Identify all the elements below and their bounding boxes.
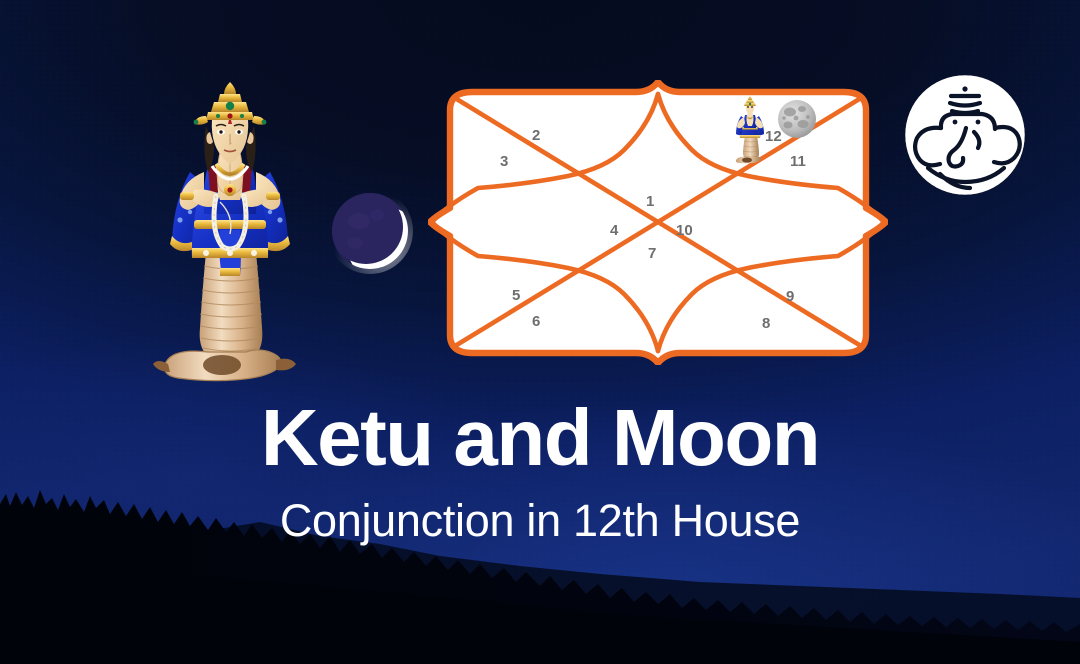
ketu-deity-illustration xyxy=(150,80,310,385)
house-number-1: 1 xyxy=(646,194,654,209)
house-number-9: 9 xyxy=(786,289,794,304)
ketu-planet-marker xyxy=(733,96,767,164)
house-number-6: 6 xyxy=(532,314,540,329)
house-number-4: 4 xyxy=(610,223,618,238)
page-subtitle: Conjunction in 12th House xyxy=(0,498,1080,543)
title-block: Ketu and Moon Conjunction in 12th House xyxy=(0,398,1080,543)
crescent-moon xyxy=(325,185,420,280)
chart-diagram xyxy=(428,80,888,365)
house-number-11: 11 xyxy=(790,154,806,169)
house-number-3: 3 xyxy=(500,154,508,169)
house-number-8: 8 xyxy=(762,316,770,331)
house-number-2: 2 xyxy=(532,128,540,143)
full-moon-marker xyxy=(776,98,818,140)
vedic-birth-chart[interactable]: 1 2 3 4 5 6 7 8 9 10 11 12 xyxy=(428,80,888,365)
house-number-5: 5 xyxy=(512,288,520,303)
ganesha-logo xyxy=(900,70,1030,200)
house-number-10: 10 xyxy=(676,223,693,238)
house-number-7: 7 xyxy=(648,246,656,261)
page-title: Ketu and Moon xyxy=(0,398,1080,478)
